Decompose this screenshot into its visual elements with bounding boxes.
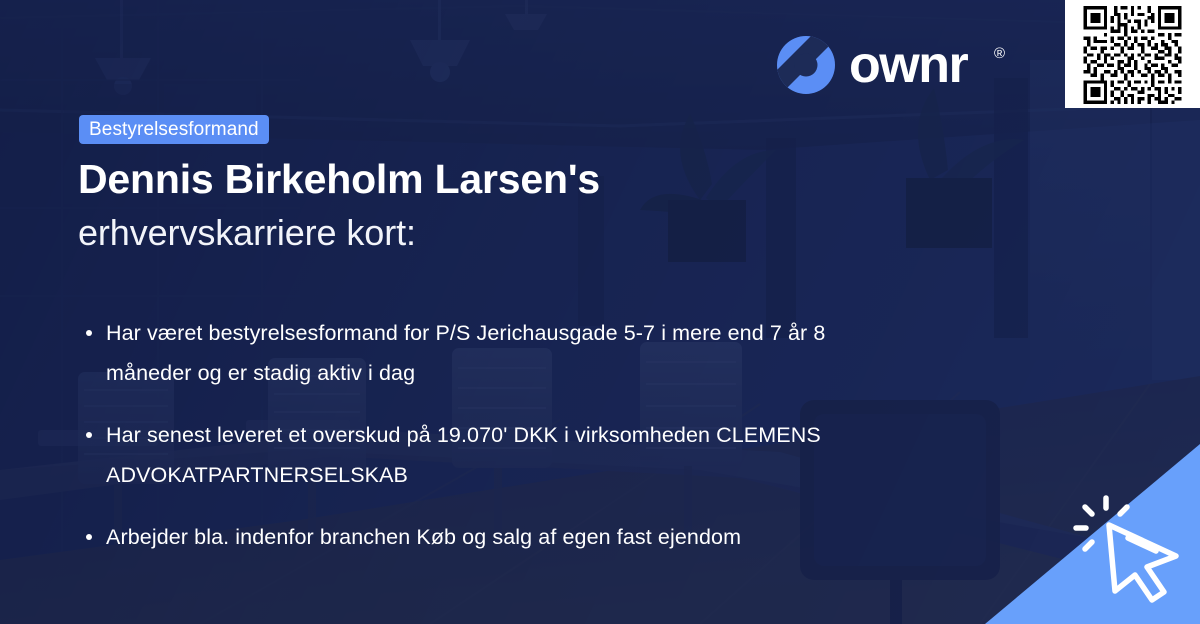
bullet-dot-icon [86,534,92,540]
ownr-swirl-logo-icon [777,36,835,94]
qr-code-icon [1073,6,1192,104]
list-item: Har senest leveret et overskud på 19.070… [78,415,908,495]
ownr-profile-card: Bestyrelsesformand Dennis Birkeholm Lars… [0,0,1200,624]
bullet-dot-icon [86,432,92,438]
registered-trademark-icon: ® [994,46,1005,61]
ownr-wordmark: ownr [849,39,967,91]
list-item: Arbejder bla. indenfor branchen Køb og s… [78,517,908,557]
list-item: Har været bestyrelsesformand for P/S Jer… [78,313,908,393]
ownr-logo[interactable]: ownr [777,36,967,94]
bullet-dot-icon [86,330,92,336]
list-item-text: Har senest leveret et overskud på 19.070… [106,423,821,487]
list-item-text: Arbejder bla. indenfor branchen Køb og s… [106,525,741,549]
role-badge: Bestyrelsesformand [79,115,269,144]
page-title-line2: erhvervskarriere kort: [78,212,416,254]
career-highlights-list: Har været bestyrelsesformand for P/S Jer… [78,313,908,557]
list-item-text: Har været bestyrelsesformand for P/S Jer… [106,321,825,385]
click-cursor-icon [1072,492,1188,608]
qr-code-panel[interactable] [1065,0,1200,108]
page-title-line1: Dennis Birkeholm Larsen's [78,156,600,203]
role-badge-label: Bestyrelsesformand [89,119,259,141]
